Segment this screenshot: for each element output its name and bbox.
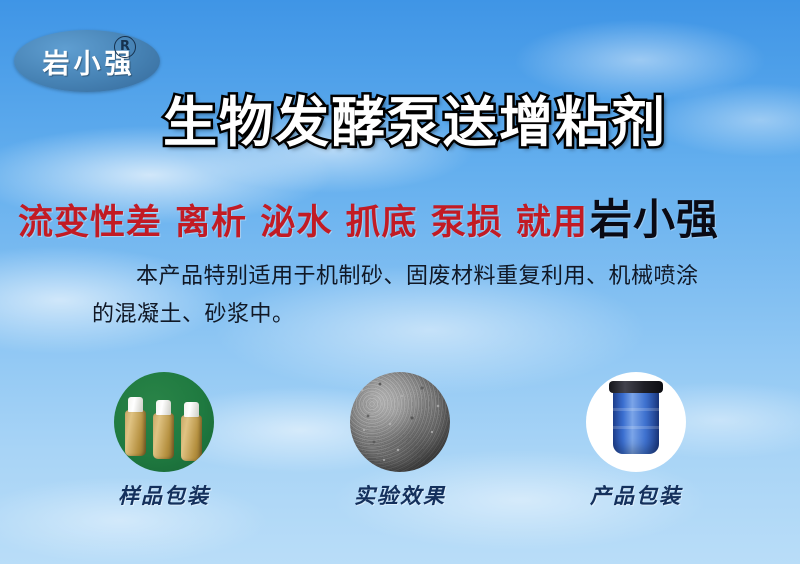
feature-item: 样品包装 — [89, 372, 239, 510]
registered-trademark-icon: R — [114, 36, 136, 58]
aggregate-grain-texture — [350, 372, 450, 472]
slogan-line: 流变性差 离析 泌水 抓底 泵损 就用岩小强 — [18, 186, 719, 247]
product-description: 本产品特别适用于机制砂、固废材料重复利用、机械喷涂的混凝土、砂浆中。 — [92, 258, 712, 334]
feature-item: 实验效果 — [325, 372, 475, 510]
drum-icon — [613, 388, 659, 454]
product-poster: 岩小强 R 生物发酵泵送增粘剂 流变性差 离析 泌水 抓底 泵损 就用岩小强 本… — [0, 0, 800, 564]
slogan-problems: 流变性差 离析 泌水 抓底 泵损 就用 — [18, 203, 588, 243]
sample-bottles-photo — [114, 372, 214, 472]
bottle-icon — [153, 413, 174, 459]
bottle-icon — [181, 415, 202, 461]
feature-gallery: 样品包装 实验效果 产品包装 — [0, 372, 800, 510]
bottle-icon — [125, 410, 146, 456]
drum-band — [613, 408, 659, 411]
feature-label: 样品包装 — [118, 480, 210, 510]
mortar-texture-photo — [350, 372, 450, 472]
feature-item: 产品包装 — [561, 372, 711, 510]
page-title: 生物发酵泵送增粘剂 — [0, 78, 800, 157]
slogan-brand: 岩小强 — [590, 195, 719, 244]
drum-band — [613, 426, 659, 429]
blue-drum-photo — [586, 372, 686, 472]
feature-label: 产品包装 — [590, 480, 682, 510]
feature-label: 实验效果 — [354, 480, 446, 510]
